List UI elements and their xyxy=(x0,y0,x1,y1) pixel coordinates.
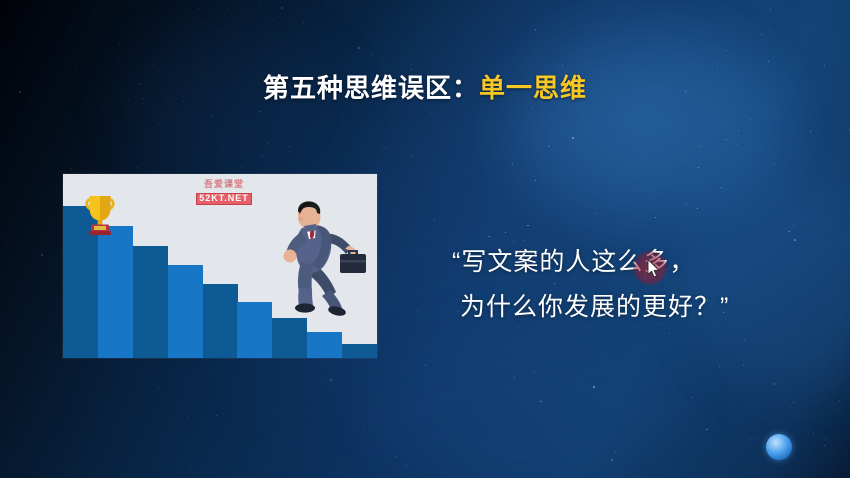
star xyxy=(221,146,222,147)
star xyxy=(45,185,46,186)
star xyxy=(738,130,739,131)
star xyxy=(465,218,466,219)
star xyxy=(692,397,693,398)
star xyxy=(485,123,486,124)
star xyxy=(810,131,811,132)
star xyxy=(205,405,206,406)
star xyxy=(52,259,53,260)
slide-canvas: 第五种思维误区：单一思维 xyxy=(0,0,850,478)
star xyxy=(737,144,738,145)
star xyxy=(467,466,468,467)
star xyxy=(113,2,114,3)
star xyxy=(100,44,101,45)
star xyxy=(818,352,819,353)
star xyxy=(56,190,57,191)
star xyxy=(793,225,794,226)
star xyxy=(813,433,814,434)
star xyxy=(52,208,53,209)
star xyxy=(58,1,59,2)
star xyxy=(756,439,757,440)
star xyxy=(430,113,431,114)
star xyxy=(556,466,557,467)
star xyxy=(751,439,752,440)
star xyxy=(39,279,40,280)
nebula-cloud xyxy=(520,40,780,210)
star xyxy=(211,116,212,117)
star xyxy=(548,146,550,148)
star xyxy=(262,156,263,157)
star xyxy=(329,25,330,26)
star xyxy=(540,401,542,403)
quote-text: “写文案的人这么多， 为什么你发展的更好？” xyxy=(452,240,822,329)
star xyxy=(562,65,563,66)
star xyxy=(70,29,71,30)
star xyxy=(629,470,630,471)
star xyxy=(204,397,205,398)
stair-bar xyxy=(307,332,342,358)
star xyxy=(281,7,283,9)
star xyxy=(514,377,515,378)
star xyxy=(572,137,574,139)
quote-line-2: 为什么你发展的更好？” xyxy=(452,285,822,330)
star xyxy=(774,163,775,164)
star xyxy=(411,155,412,156)
star xyxy=(698,167,699,168)
stair-bar xyxy=(133,246,168,358)
star xyxy=(54,57,56,59)
star xyxy=(611,459,613,461)
nebula-cloud xyxy=(120,30,340,180)
star xyxy=(767,340,768,341)
star xyxy=(148,435,149,436)
watermark-line-1: 吾爱课堂 xyxy=(169,180,279,189)
star xyxy=(387,435,388,436)
star xyxy=(228,9,229,10)
star xyxy=(330,379,332,381)
stair-bar xyxy=(98,226,133,358)
star xyxy=(185,382,186,383)
illustration-panel: 吾爱课堂 52KT.NET xyxy=(63,174,377,358)
star xyxy=(677,205,678,206)
stair-bar xyxy=(342,344,377,358)
star xyxy=(431,435,432,436)
star xyxy=(115,36,116,37)
star xyxy=(191,464,192,465)
stair-bar xyxy=(203,284,238,358)
star xyxy=(774,383,776,385)
star xyxy=(198,8,199,9)
star xyxy=(750,119,751,120)
star xyxy=(187,416,188,417)
star xyxy=(825,438,826,439)
star xyxy=(534,371,535,372)
star xyxy=(382,188,383,189)
star xyxy=(793,402,794,403)
star xyxy=(56,327,58,329)
star xyxy=(56,432,57,433)
channel-logo xyxy=(766,434,792,460)
star xyxy=(532,108,533,109)
star xyxy=(669,333,670,334)
star xyxy=(418,249,419,250)
star xyxy=(726,139,727,140)
star xyxy=(276,456,277,457)
star xyxy=(768,61,769,62)
star xyxy=(153,65,154,66)
mouse-cursor-icon xyxy=(647,259,660,278)
star xyxy=(686,204,687,205)
trophy-icon xyxy=(83,192,117,236)
star xyxy=(808,112,809,113)
star xyxy=(761,34,762,35)
star xyxy=(655,217,656,218)
star xyxy=(769,124,770,125)
star xyxy=(95,14,96,15)
star xyxy=(210,374,211,375)
star xyxy=(75,65,76,66)
star xyxy=(717,65,718,66)
star xyxy=(358,47,360,49)
star xyxy=(719,366,720,367)
watermark-line-2: 52KT.NET xyxy=(196,193,252,204)
star xyxy=(700,146,701,147)
star xyxy=(697,208,698,209)
star xyxy=(46,375,47,376)
star xyxy=(289,146,290,147)
star xyxy=(839,400,840,401)
star xyxy=(773,204,774,205)
star xyxy=(416,310,417,311)
nebula-cloud xyxy=(380,330,680,478)
star xyxy=(560,356,561,357)
star xyxy=(350,386,351,387)
page-title-accent: 单一思维 xyxy=(479,73,587,103)
star xyxy=(386,254,387,255)
businessman-figure xyxy=(268,198,368,328)
star xyxy=(161,361,162,362)
star xyxy=(222,476,223,477)
star xyxy=(758,369,759,370)
watermark: 吾爱课堂 52KT.NET xyxy=(169,180,279,206)
star xyxy=(273,20,274,21)
star xyxy=(7,247,8,248)
star xyxy=(225,474,226,475)
star xyxy=(260,2,261,3)
star xyxy=(485,142,486,143)
star xyxy=(512,163,513,164)
star xyxy=(721,187,722,188)
star xyxy=(640,224,641,225)
star xyxy=(434,219,435,220)
star xyxy=(28,233,29,234)
star xyxy=(241,166,242,167)
star xyxy=(488,236,490,238)
star xyxy=(53,163,54,164)
star xyxy=(260,111,261,112)
star xyxy=(158,387,159,388)
star xyxy=(770,9,771,10)
star xyxy=(791,407,792,408)
star xyxy=(425,365,426,366)
star xyxy=(137,167,138,168)
star xyxy=(736,212,737,213)
star xyxy=(385,148,386,149)
star xyxy=(289,151,290,152)
star xyxy=(29,324,30,325)
star xyxy=(433,258,434,259)
star xyxy=(119,44,120,45)
star xyxy=(714,233,715,234)
star xyxy=(743,364,745,366)
star xyxy=(303,22,304,23)
star xyxy=(527,225,529,227)
star xyxy=(726,50,727,51)
page-title-main: 第五种思维误区： xyxy=(263,73,479,103)
star xyxy=(535,29,537,31)
star xyxy=(41,254,43,256)
star xyxy=(824,445,825,446)
star xyxy=(823,223,824,224)
star xyxy=(769,31,770,32)
star xyxy=(268,143,269,144)
star xyxy=(788,231,790,233)
star xyxy=(595,213,596,214)
star xyxy=(261,126,262,127)
star xyxy=(615,452,616,453)
star xyxy=(706,429,708,431)
star xyxy=(410,64,411,65)
star xyxy=(71,168,72,169)
star xyxy=(744,340,745,341)
star xyxy=(463,378,464,379)
star xyxy=(535,180,536,181)
star xyxy=(406,465,407,466)
star xyxy=(158,123,159,124)
star xyxy=(216,415,217,416)
star xyxy=(651,199,653,201)
star xyxy=(593,386,595,388)
star xyxy=(364,427,365,428)
star xyxy=(505,232,506,233)
star xyxy=(371,54,372,55)
stair-bar xyxy=(168,265,203,358)
star xyxy=(824,65,825,66)
page-title: 第五种思维误区：单一思维 xyxy=(0,68,850,105)
star xyxy=(13,51,14,52)
star xyxy=(396,456,397,457)
